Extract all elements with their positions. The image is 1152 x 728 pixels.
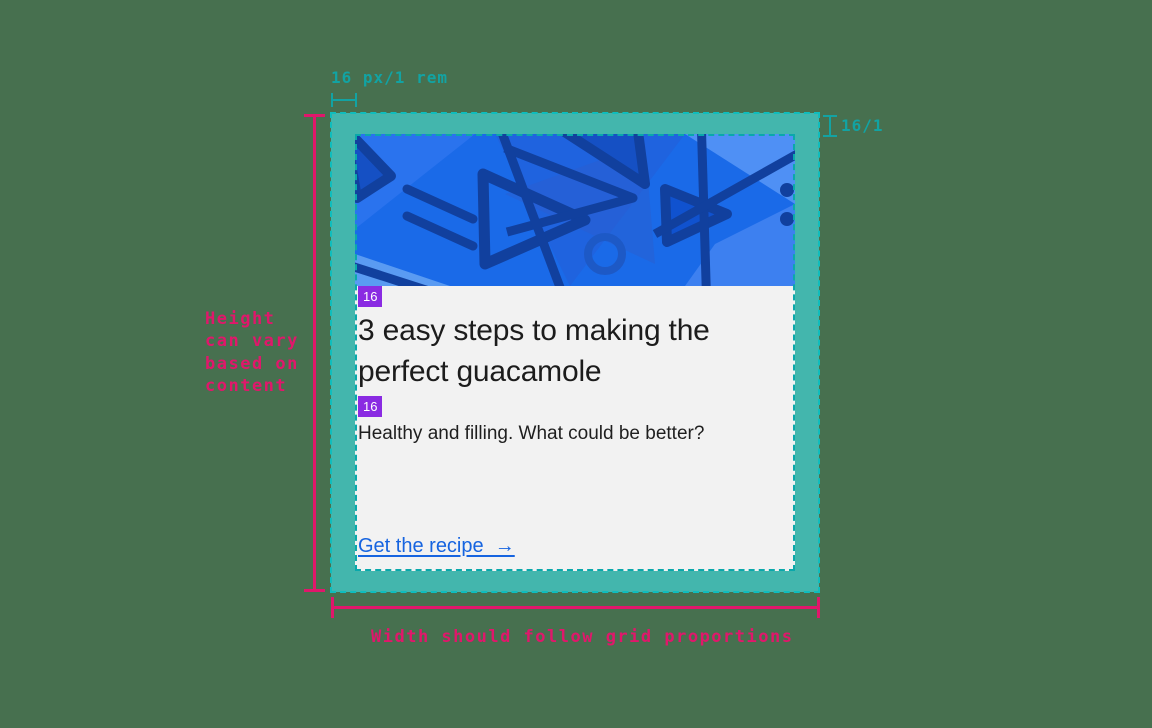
width-ruler — [331, 606, 820, 609]
title-spacing-chip: 16 — [358, 286, 382, 307]
right-spacing-bracket-icon — [829, 115, 831, 137]
top-spacing-label: 16 px/1 rem — [331, 68, 448, 87]
right-spacing-label: 16/1 — [841, 116, 884, 135]
width-note: Width should follow grid proportions — [371, 626, 793, 648]
subtitle-spacing-chip: 16 — [358, 396, 382, 417]
height-note: Height can vary based on content — [205, 308, 325, 398]
annotated-card-spec-canvas: 16 px/1 rem — [0, 0, 1152, 728]
top-spacing-bracket-icon — [331, 99, 357, 101]
content-boundary-guide — [355, 134, 795, 571]
